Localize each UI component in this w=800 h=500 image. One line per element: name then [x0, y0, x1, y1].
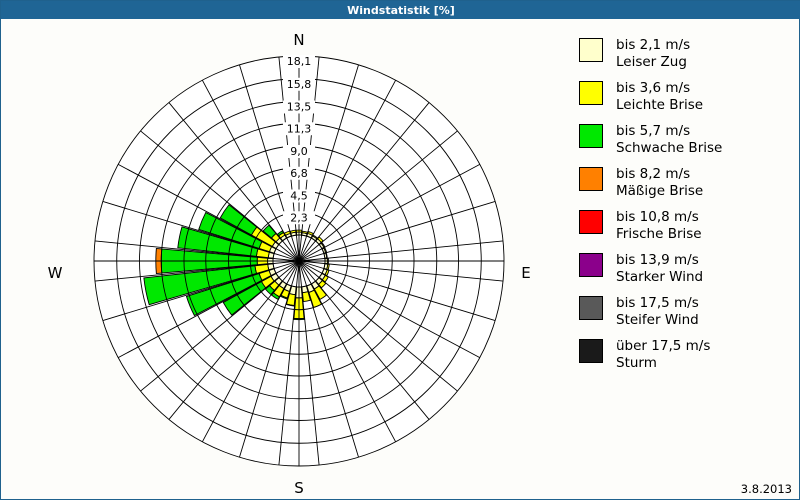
legend-item-name: Leiser Zug: [616, 54, 690, 71]
legend-item-speed: bis 13,9 m/s: [616, 252, 699, 268]
legend-item-name: Schwache Brise: [616, 140, 722, 157]
legend-color-swatch: [579, 124, 603, 148]
legend-item-text: bis 2,1 m/sLeiser Zug: [616, 37, 690, 71]
windstatistik-window: Windstatistik [%] 2,34,56,89,011,313,515…: [0, 0, 800, 500]
compass-label-south: S: [279, 479, 319, 497]
legend-item-text: bis 3,6 m/sLeichte Brise: [616, 80, 703, 114]
legend-item-name: Sturm: [616, 355, 710, 372]
legend-item-text: bis 5,7 m/sSchwache Brise: [616, 123, 722, 157]
radial-tick-label: 6,8: [290, 167, 308, 180]
legend-item: bis 13,9 m/sStarker Wind: [579, 252, 794, 286]
legend-item-name: Mäßige Brise: [616, 183, 703, 200]
legend-item-text: bis 10,8 m/sFrische Brise: [616, 209, 702, 243]
legend-item: bis 2,1 m/sLeiser Zug: [579, 37, 794, 71]
legend-color-swatch: [579, 38, 603, 62]
legend-item-speed: bis 3,6 m/s: [616, 80, 690, 96]
legend-item-text: bis 8,2 m/sMäßige Brise: [616, 166, 703, 200]
legend-item: bis 10,8 m/sFrische Brise: [579, 209, 794, 243]
legend-item-speed: bis 10,8 m/s: [616, 209, 699, 225]
window-title-bar: Windstatistik [%]: [1, 1, 800, 19]
legend-item-name: Leichte Brise: [616, 97, 703, 114]
wind-rose-plot: 2,34,56,89,011,313,515,818,1 N S W E: [1, 19, 567, 499]
legend-item-text: bis 13,9 m/sStarker Wind: [616, 252, 703, 286]
legend-item-name: Starker Wind: [616, 269, 703, 286]
legend: bis 2,1 m/sLeiser Zugbis 3,6 m/sLeichte …: [579, 37, 794, 381]
legend-item-speed: bis 2,1 m/s: [616, 37, 690, 53]
wind-rose-segment: [290, 230, 296, 233]
legend-item-speed: bis 8,2 m/s: [616, 166, 690, 182]
compass-label-east: E: [506, 264, 546, 282]
legend-item-text: bis 17,5 m/sSteifer Wind: [616, 295, 699, 329]
legend-color-swatch: [579, 167, 603, 191]
radial-tick-label: 11,3: [287, 122, 312, 135]
wind-rose-svg: 2,34,56,89,011,313,515,818,1: [1, 19, 567, 499]
radial-tick-label: 9,0: [290, 145, 308, 158]
legend-item: über 17,5 m/sSturm: [579, 338, 794, 372]
legend-item-speed: bis 5,7 m/s: [616, 123, 690, 139]
radial-tick-label: 2,3: [290, 211, 308, 224]
window-title: Windstatistik [%]: [347, 4, 455, 17]
radial-tick-label: 15,8: [287, 78, 312, 91]
legend-color-swatch: [579, 253, 603, 277]
radial-tick-label: 13,5: [287, 100, 312, 113]
legend-item-speed: bis 17,5 m/s: [616, 295, 699, 311]
radial-tick-label: 4,5: [290, 190, 308, 203]
radial-tick-label: 18,1: [287, 55, 312, 68]
legend-item-text: über 17,5 m/sSturm: [616, 338, 710, 372]
legend-item-speed: über 17,5 m/s: [616, 338, 710, 354]
legend-item-name: Frische Brise: [616, 226, 702, 243]
date-stamp: 3.8.2013: [741, 482, 792, 496]
legend-item: bis 5,7 m/sSchwache Brise: [579, 123, 794, 157]
compass-label-north: N: [279, 31, 319, 49]
legend-color-swatch: [579, 296, 603, 320]
legend-color-swatch: [579, 210, 603, 234]
legend-item: bis 3,6 m/sLeichte Brise: [579, 80, 794, 114]
legend-item: bis 8,2 m/sMäßige Brise: [579, 166, 794, 200]
legend-item-name: Steifer Wind: [616, 312, 699, 329]
legend-item: bis 17,5 m/sSteifer Wind: [579, 295, 794, 329]
legend-color-swatch: [579, 339, 603, 363]
legend-color-swatch: [579, 81, 603, 105]
compass-label-west: W: [35, 264, 75, 282]
